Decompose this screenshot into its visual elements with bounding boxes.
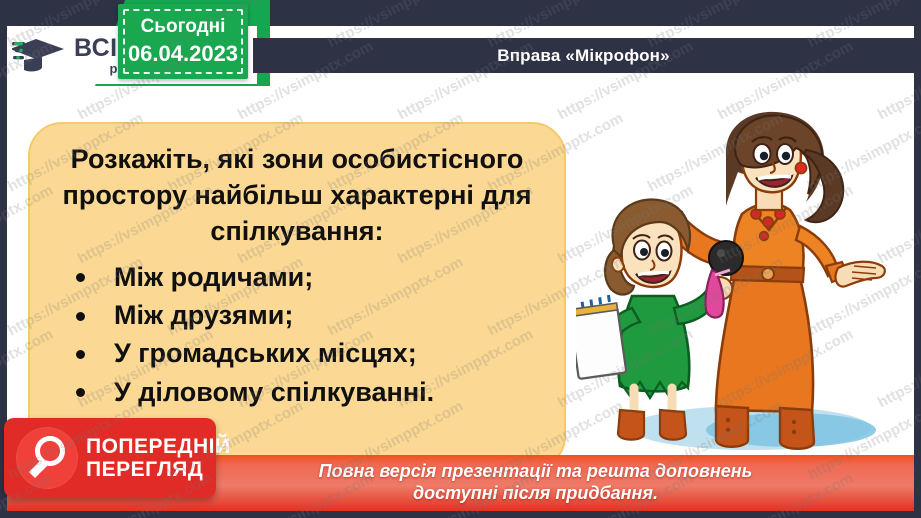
graduation-cap-icon — [12, 33, 68, 77]
illustration-woman-and-child — [576, 110, 916, 465]
list-item: У діловому спілкуванні. — [52, 373, 542, 411]
list-item-label: Між родичами; — [114, 262, 313, 292]
header-bar: Вправа «Мікрофон» — [253, 38, 914, 73]
bullet-dot-icon — [76, 388, 85, 397]
banner-line-1: Повна версія презентації та решта доповн… — [157, 461, 914, 483]
date-badge-value: 06.04.2023 — [128, 41, 238, 67]
banner-line-2: доступні після придбання. — [157, 483, 914, 505]
list-item: Між друзями; — [52, 296, 542, 334]
list-item: У громадських місцях; — [52, 334, 542, 372]
card-heading: Розкажіть, які зони особистісного просто… — [52, 142, 542, 250]
preview-badge-line-2: ПЕРЕГЛЯД — [86, 459, 231, 480]
date-badge-label: Сьогодні — [141, 16, 226, 38]
bullet-dot-icon — [76, 350, 85, 359]
preview-badge-line-1: ПОПЕРЕДНІЙ — [86, 436, 231, 457]
slide-root: ВСІМ pptx Сьогодні 06.04.2023 Вправа «Мі… — [0, 0, 921, 518]
list-item-label: У діловому спілкуванні. — [114, 377, 434, 407]
bullet-dot-icon — [76, 312, 85, 321]
page-title: Вправа «Мікрофон» — [497, 46, 670, 66]
date-badge: Сьогодні 06.04.2023 — [118, 4, 248, 79]
list-item-label: Між друзями; — [114, 300, 293, 330]
bullet-list: Між родичами; Між друзями; У громадських… — [52, 258, 542, 411]
preview-badge[interactable]: ПОПЕРЕДНІЙ ПЕРЕГЛЯД — [4, 418, 216, 498]
magnifier-icon — [16, 427, 78, 489]
list-item-label: У громадських місцях; — [114, 338, 417, 368]
list-item: Між родичами; — [52, 258, 542, 296]
bullet-dot-icon — [76, 273, 85, 282]
